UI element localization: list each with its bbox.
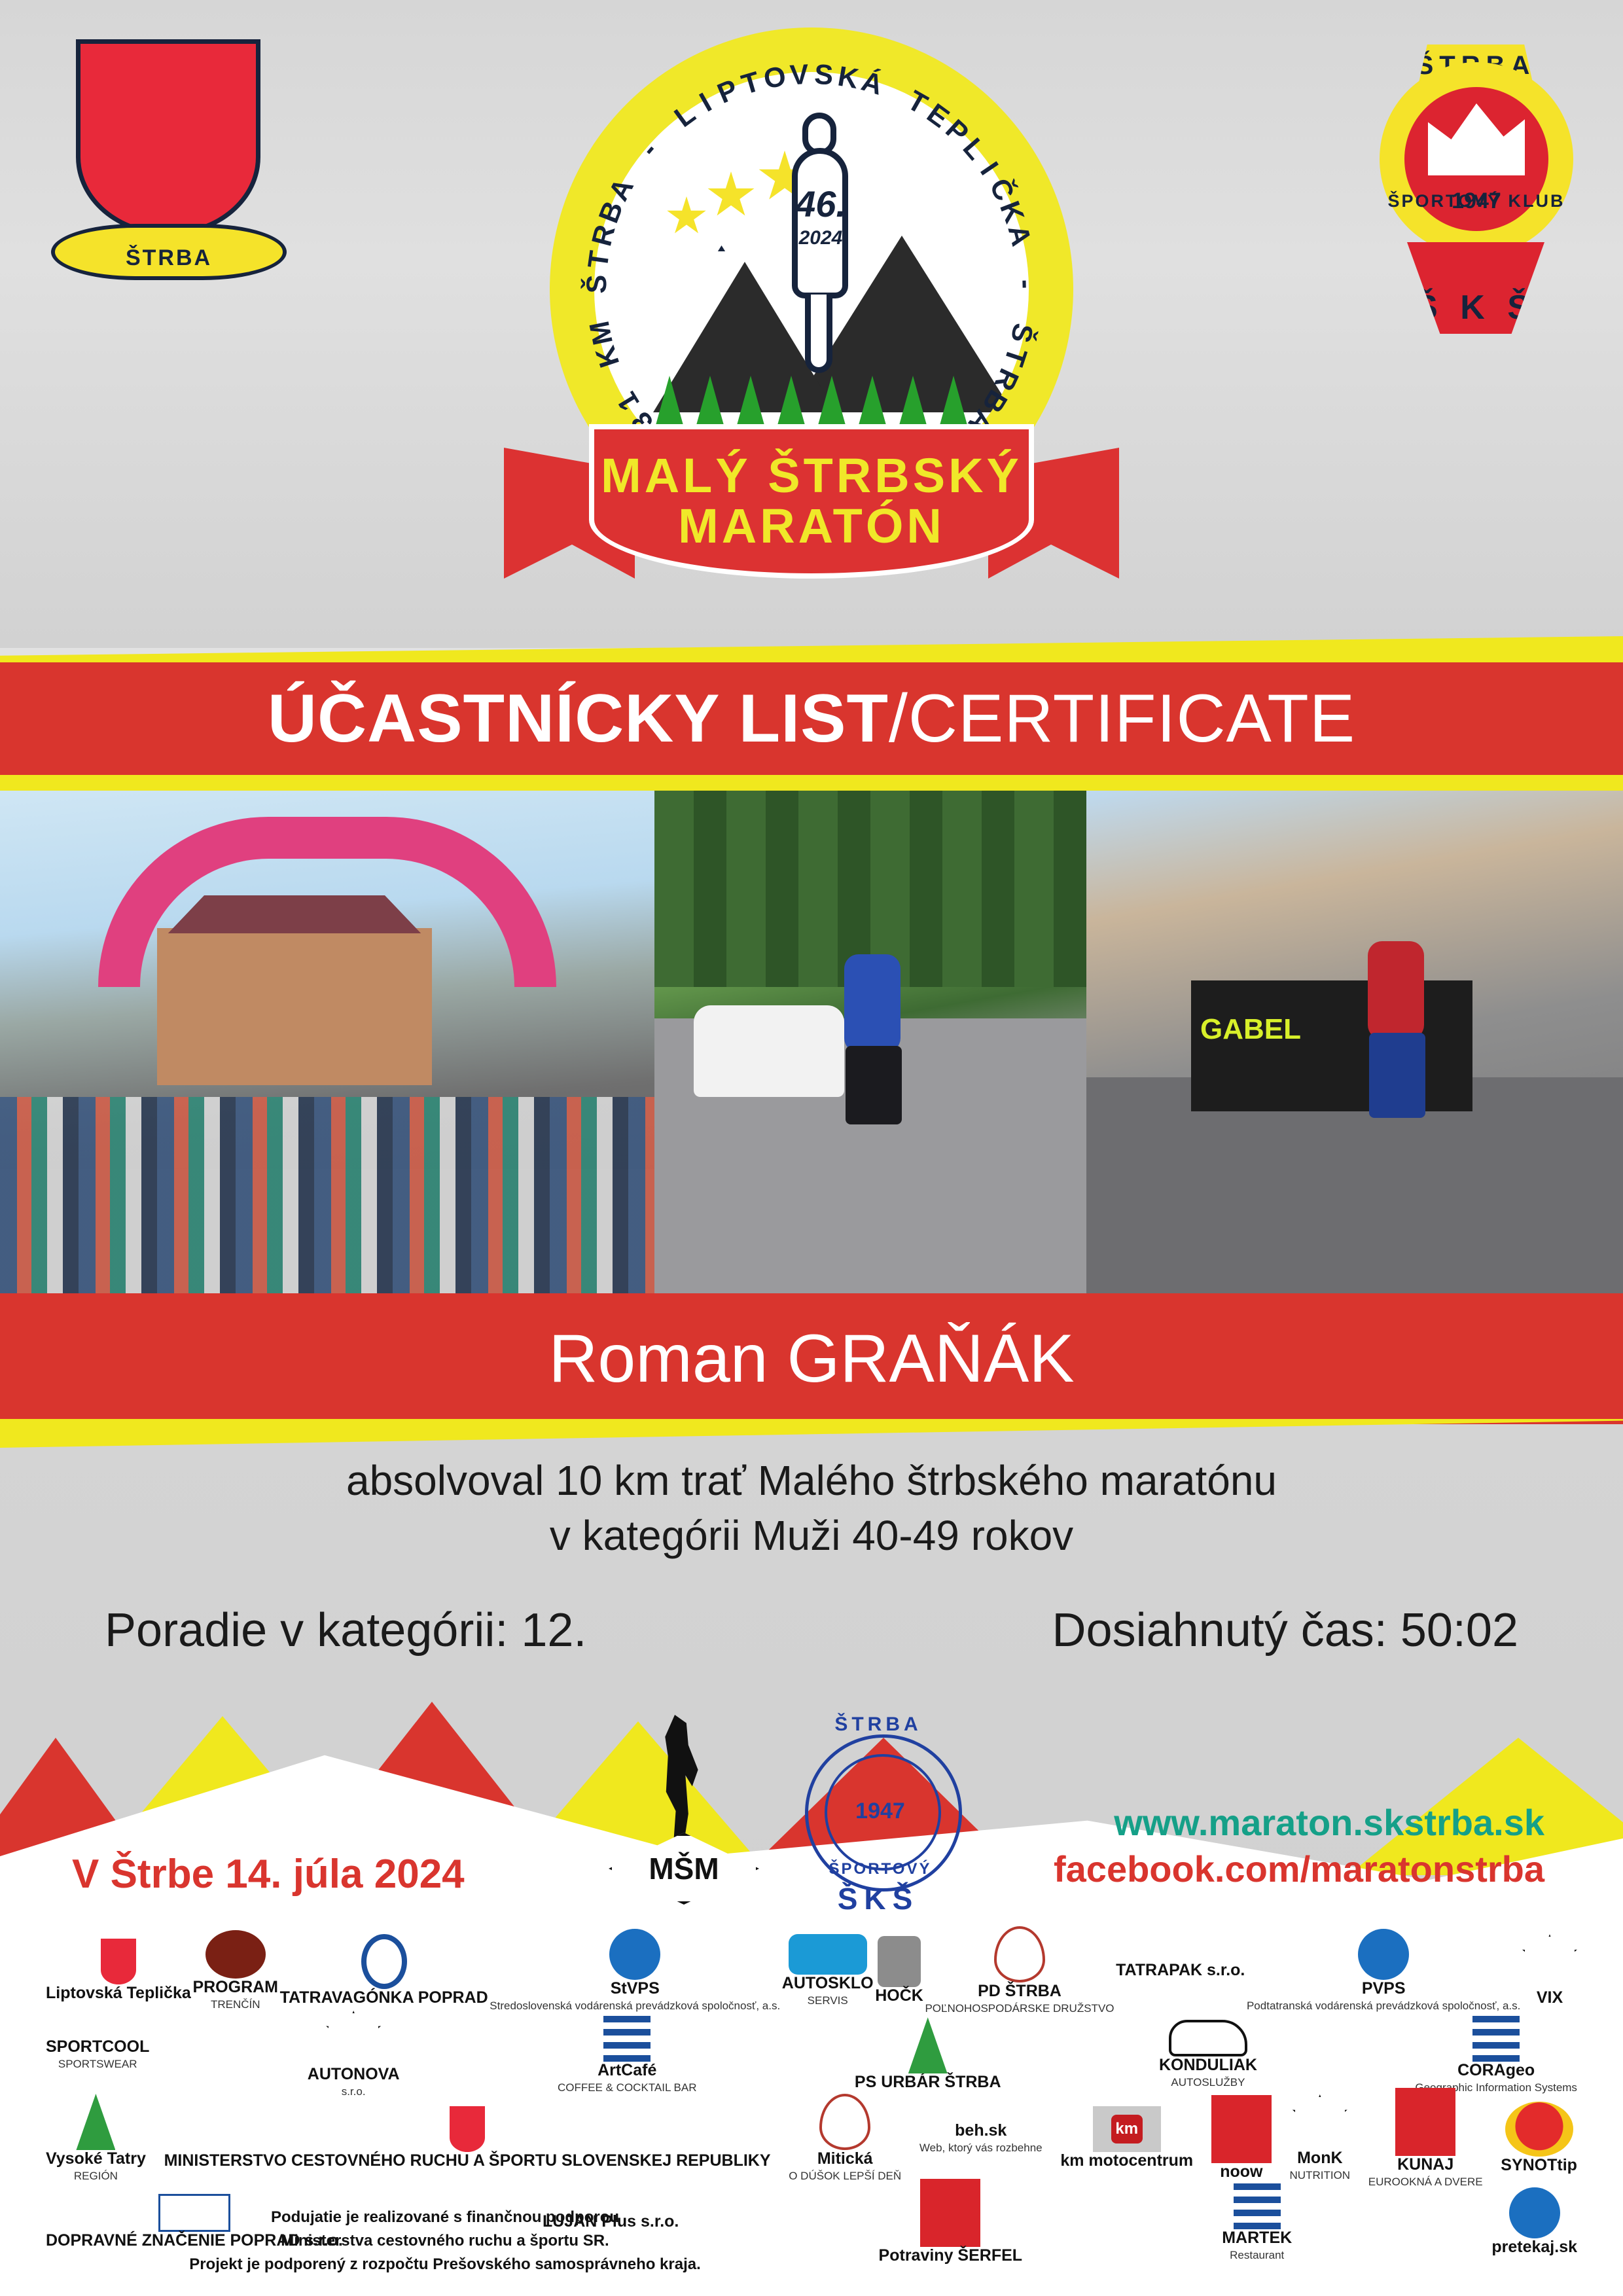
sponsor-circ-icon (1509, 2187, 1560, 2238)
sponsor-grid-icon (1234, 2182, 1281, 2229)
sponsor-redbox-icon (1211, 2095, 1272, 2163)
ribbon-line-2: MARATÓN (678, 501, 945, 552)
sponsor-name: Vysoké Tatry (46, 2150, 146, 2168)
finish-time: Dosiahnutý čas: 50:02 (1052, 1604, 1518, 1657)
sponsor-bluoval-icon (361, 1934, 407, 1989)
sponsor-name: MINISTERSTVO CESTOVNÉHO RUCHU A ŠPORTU S… (164, 2152, 771, 2170)
sponsor-name: noow (1220, 2163, 1262, 2181)
sponsor-logo: KONDULIAKAUTOSLUŽBY (1159, 2016, 1257, 2093)
contact-links: www.maraton.skstrba.sk facebook.com/mara… (1054, 1801, 1544, 1890)
title-slovak: ÚČASTNÍCKY LIST (268, 680, 889, 758)
sponsor-subtitle: s.r.o. (342, 2085, 366, 2098)
ribbon-main: MALÝ ŠTRBSKÝ MARATÓN (589, 424, 1034, 579)
sponsor-name: Mitická (817, 2150, 873, 2168)
msm-diamond-label: MŠM (609, 1833, 759, 1905)
sponsor-circ-icon (1358, 1929, 1409, 1980)
badge-arc-char: - (634, 135, 664, 164)
sponsor-logo: CORAgeoGeographic Information Systems (1415, 2016, 1577, 2093)
ribbon-line-1: MALÝ ŠTRBSKÝ (601, 451, 1022, 501)
sponsor-logo: beh.skWeb, ktorý vás rozbehne (919, 2100, 1043, 2177)
funding-support-note: Podujatie je realizované s finančnou pod… (151, 2206, 740, 2276)
sponsor-name: PROGRAM (192, 1979, 278, 1997)
sponsor-logo: kmkm motocentrum (1060, 2100, 1193, 2177)
club-bottom-text: Š K Š (1407, 242, 1544, 334)
sponsor-car-icon (1169, 2020, 1247, 2056)
sponsor-oval-icon (205, 1930, 266, 1979)
sponsor-logo: MARTEKRestaurant (1222, 2183, 1292, 2261)
event-date: V Štrbe 14. júla 2024 (72, 1851, 465, 1897)
sponsor-name: km motocentrum (1060, 2152, 1193, 2170)
sponsor-logo: SPORTCOOLSPORTSWEAR (46, 2016, 149, 2093)
badge-arc-char: V (789, 59, 810, 92)
sponsor-name: SPORTCOOL (46, 2038, 149, 2056)
sponsor-subtitle: COFFEE & COCKTAIL BAR (558, 2081, 697, 2094)
page-title: ÚČASTNÍCKY LIST / CERTIFICATE (0, 662, 1623, 775)
sponsor-logo: PD ŠTRBAPOĽNOHOSPODÁRSKE DRUŽSTVO (925, 1932, 1114, 2009)
sponsor-logo: MonKNUTRITION (1290, 2100, 1351, 2177)
badge-arc-char (582, 303, 615, 314)
sponsor-blob-icon (789, 1934, 867, 1975)
coat-of-arms-label: ŠTRBA (51, 224, 287, 280)
badge-arc-char: T (582, 249, 616, 270)
sponsor-name: TATRAVAGÓNKA POPRAD (280, 1989, 488, 2007)
badge-arc-char: A (1001, 222, 1037, 249)
badge-arc-char: O (761, 60, 788, 96)
badge-arc-char: - (1010, 279, 1042, 289)
category-rank: Poradie v kategórii: 12. (105, 1604, 586, 1657)
sponsor-subtitle: Web, ktorý vás rozbehne (919, 2142, 1043, 2155)
sponsor-name: StVPS (611, 1980, 660, 1998)
badge-ribbon: MALÝ ŠTRBSKÝ MARATÓN (504, 424, 1119, 594)
sponsor-shield-icon (450, 2106, 485, 2152)
sponsor-name: PVPS (1362, 1980, 1406, 1998)
sponsor-logo: Liptovská Teplička (46, 1932, 191, 2009)
sponsor-circ-icon (609, 1929, 660, 1980)
sponsor-name: beh.sk (955, 2122, 1007, 2140)
sponsor-name: HOČK (875, 1987, 923, 2005)
sponsor-km-icon: km (1093, 2106, 1161, 2152)
name-yellow-stripe (0, 1419, 1623, 1448)
sponsor-name: Liptovská Teplička (46, 1984, 191, 2003)
badge-arc-char: Š (1004, 321, 1039, 346)
sponsor-name: Potraviny ŠERFEL (879, 2247, 1023, 2265)
sponsor-redbox-icon (1395, 2088, 1455, 2156)
sponsor-row: Vysoké TatryREGIÓNMINISTERSTVO CESTOVNÉH… (46, 2098, 1577, 2178)
result-line-2: v kategórii Muži 40-49 rokov (0, 1508, 1623, 1563)
sponsor-name: PD ŠTRBA (978, 1982, 1061, 2001)
sponsor-drop-icon (819, 2094, 870, 2150)
sponsor-logo: noow (1211, 2100, 1272, 2177)
sponsor-subtitle: NUTRITION (1290, 2169, 1351, 2182)
sponsor-barrier: GABEL (1191, 980, 1472, 1111)
participant-name: Roman GRAŇÁK (0, 1293, 1623, 1424)
sponsor-logo: Potraviny ŠERFEL (879, 2183, 1023, 2261)
sponsor-star-icon (1522, 1934, 1577, 1989)
sponsor-logo: pretekaj.sk (1491, 2183, 1577, 2261)
funding-note-line: Projekt je podporený z rozpočtu Prešovsk… (151, 2253, 740, 2276)
stamp-arc-text: ŠPORTOVÝ (805, 1860, 955, 1878)
badge-arc-char: Š (581, 274, 614, 294)
badge-arc-char: R (586, 222, 622, 249)
sponsor-subtitle: POĽNOHOSPODÁRSKE DRUŽSTVO (925, 2002, 1114, 2015)
sponsor-logo: PS URBÁR ŠTRBA (855, 2016, 1001, 2093)
badge-arc-char (1008, 303, 1041, 314)
footer-band: V Štrbe 14. júla 2024 MŠM ŠTRBA 1947 ŠPO… (0, 1702, 1623, 2296)
municipality-strba-coat-of-arms: ŠTRBA (51, 33, 287, 327)
badge-arc-char (885, 76, 905, 109)
sponsor-gold-icon (1505, 2102, 1573, 2157)
sponsor-row: SPORTCOOLSPORTSWEARAUTONOVAs.r.o.ArtCafé… (46, 2015, 1577, 2094)
sponsor-subtitle: AUTOSLUŽBY (1171, 2076, 1245, 2089)
badge-arc-char (601, 369, 633, 389)
sponsor-subtitle: REGIÓN (74, 2170, 118, 2183)
result-line-1: absolvoval 10 km trať Malého štrbského m… (0, 1453, 1623, 1508)
certificate-page: ŠTRBA 46. 2024 (0, 0, 1623, 2296)
sponsor-grid-icon (1472, 2015, 1520, 2062)
stamp-top-text: ŠTRBA (819, 1713, 937, 1736)
sponsor-name: PS URBÁR ŠTRBA (855, 2073, 1001, 2092)
runner-silhouette-icon (654, 1715, 703, 1852)
badge-arc-char (1007, 253, 1040, 266)
sponsor-logo: StVPSStredoslovenská vodárenská prevádzk… (490, 1932, 780, 2009)
photo-female-runner (654, 791, 1086, 1293)
photo-mass-start (0, 791, 654, 1293)
sponsor-subtitle: EUROOKNÁ A DVERE (1368, 2176, 1483, 2189)
sponsor-logo: MitickáO DÚŠOK LEPŠÍ DEŇ (789, 2100, 901, 2177)
sponsor-name: TATRAPAK s.r.o. (1116, 1962, 1245, 1980)
sponsor-drop-icon (994, 1926, 1045, 1982)
msm-runner-logo: MŠM (609, 1715, 759, 1905)
sponsor-name: AUTOSKLO (782, 1975, 874, 1993)
sponsor-name: MonK (1297, 2149, 1342, 2168)
sponsor-logo: HOČK (875, 1932, 923, 2009)
sponsor-name: KUNAJ (1397, 2156, 1454, 2174)
result-details: absolvoval 10 km trať Malého štrbského m… (0, 1453, 1623, 1715)
sponsor-subtitle: Podtatranská vodárenská prevádzková spol… (1247, 2000, 1520, 2013)
coat-of-arms-shield-icon (76, 39, 260, 236)
badge-arc-char: K (836, 61, 861, 96)
sponsor-name: VIX (1537, 1989, 1563, 2007)
sponsor-logo: PROGRAMTRENČÍN (192, 1932, 278, 2009)
sponsor-logo: AUTOSKLOSERVIS (782, 1932, 874, 2009)
sponsor-logo: KUNAJEUROOKNÁ A DVERE (1368, 2100, 1483, 2177)
sponsor-name: KONDULIAK (1159, 2056, 1257, 2075)
header-band: ŠTRBA 46. 2024 (0, 0, 1623, 648)
sponsor-tree-icon (76, 2094, 115, 2150)
badge-arc-char: I (973, 156, 1004, 181)
funding-note-line: Podujatie je realizované s finančnou pod… (151, 2206, 740, 2229)
sponsor-subtitle: SPORTSWEAR (58, 2058, 137, 2071)
badge-arc-char (652, 117, 680, 146)
badge-arc-char: L (669, 98, 702, 134)
sponsor-subtitle: O DÚŠOK LEPŠÍ DEŇ (789, 2170, 901, 2183)
sponsor-star-icon (326, 2011, 381, 2066)
photo-winner-finish: GABEL (1086, 791, 1623, 1293)
sponsor-logo: AUTONOVAs.r.o. (308, 2016, 400, 2093)
sponsor-name: MARTEK (1222, 2229, 1292, 2248)
badge-arc-char: S (813, 59, 834, 92)
sponsor-grey-icon (878, 1936, 921, 1987)
badge-arc-char: P (713, 73, 743, 110)
sponsor-shield-icon (101, 1939, 136, 1984)
stamp-year: 1947 (825, 1799, 936, 1824)
funding-note-line: Ministerstva cestovného ruchu a športu S… (151, 2229, 740, 2253)
sponsor-name: SYNOTtip (1501, 2157, 1577, 2175)
sponsor-name: CORAgeo (1457, 2062, 1535, 2080)
badge-arc-char: Á (858, 65, 887, 102)
sponsor-logo: Vysoké TatryREGIÓN (46, 2100, 146, 2177)
sponsor-star-icon (1293, 2094, 1347, 2149)
sponsor-subtitle: Stredoslovenská vodárenská prevádzková s… (490, 2000, 780, 2013)
sponsor-logo: ArtCaféCOFFEE & COCKTAIL BAR (558, 2016, 697, 2093)
event-badge-logo: 46. 2024 31 KM ŠTRBA - LIPTOVSKÁ TEPLIČK… (497, 18, 1126, 634)
title-separator: / (889, 680, 908, 758)
stamp-bottom-text: ŠKŠ (819, 1881, 937, 1916)
sponsor-logo: SYNOTtip (1501, 2100, 1577, 2177)
sponsor-grid-icon (603, 2015, 651, 2062)
badge-arc-char (619, 156, 650, 181)
photo-strip: GABEL (0, 791, 1623, 1293)
title-english: CERTIFICATE (908, 680, 1355, 758)
sponsor-name: pretekaj.sk (1491, 2238, 1577, 2257)
sks-club-stamp: ŠTRBA 1947 ŠPORTOVÝ ŠKŠ (785, 1708, 969, 1918)
facebook-link[interactable]: facebook.com/maratonstrba (1054, 1848, 1544, 1890)
start-arch-icon (98, 817, 556, 987)
sponsor-subtitle: SERVIS (808, 1994, 848, 2007)
sports-club-sks-logo: ŠTRBA 1947 ŠPORTOVÝ KLUB Š K Š (1368, 26, 1584, 334)
sponsor-name: ArtCafé (597, 2062, 656, 2080)
sponsor-logo: TATRAPAK s.r.o. (1116, 1932, 1245, 2009)
sponsor-tree-icon (908, 2017, 948, 2073)
sponsor-subtitle: Restaurant (1230, 2249, 1284, 2262)
sponsor-row: Liptovská TepličkaPROGRAMTRENČÍNTATRAVAG… (46, 1931, 1577, 2011)
sponsor-logo: VIX (1522, 1932, 1577, 2009)
sponsor-logo: PVPSPodtatranská vodárenská prevádzková … (1247, 1932, 1520, 2009)
sponsor-redbox-icon (920, 2179, 980, 2247)
sponsor-logo: TATRAVAGÓNKA POPRAD (280, 1932, 488, 2009)
badge-arc-char: K (590, 342, 626, 371)
sponsor-subtitle: TRENČÍN (211, 1998, 260, 2011)
sponsor-logo: MINISTERSTVO CESTOVNÉHO RUCHU A ŠPORTU S… (164, 2100, 771, 2177)
badge-arc-char: T (738, 66, 764, 101)
sponsor-name: AUTONOVA (308, 2066, 400, 2084)
badge-arc-char: I (694, 87, 717, 119)
badge-arc-char: T (997, 344, 1033, 370)
website-link[interactable]: www.maraton.skstrba.sk (1054, 1801, 1544, 1844)
